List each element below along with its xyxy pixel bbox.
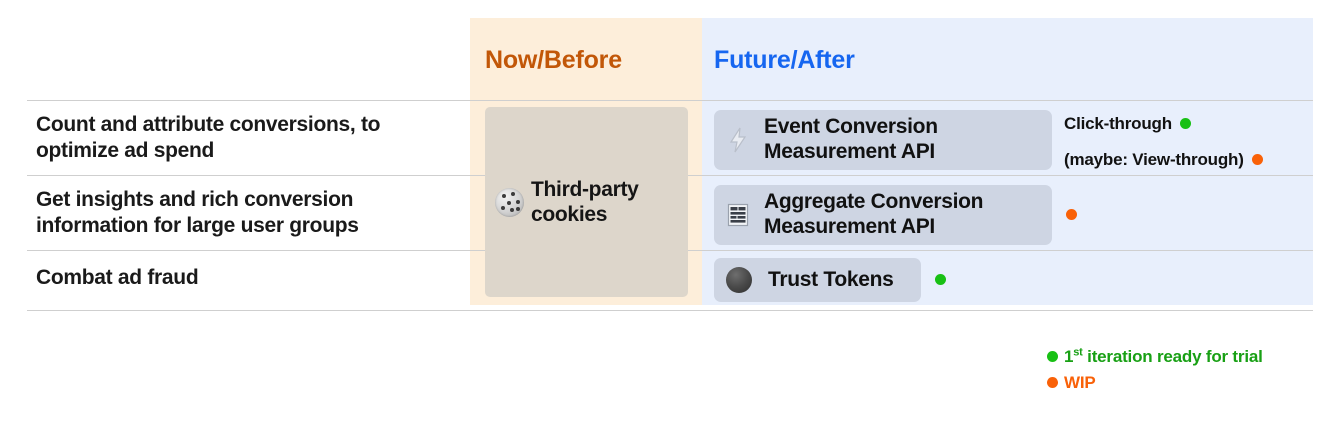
api-label: Trust Tokens [768,268,894,293]
row-divider [27,100,1313,101]
goal-label: Get insights and rich conversion informa… [36,187,456,240]
legend-dot-orange [1047,377,1058,388]
trust-token-icon [726,267,752,293]
column-header-future-after: Future/After [714,46,855,75]
legend: 1st iteration ready for trial WIP [1047,344,1327,397]
column-header-now-before: Now/Before [485,46,622,75]
legend-ready-text: iteration ready for trial [1083,347,1263,366]
third-party-cookies-label: Third-party cookies [531,177,671,227]
api-label: Event Conversion Measurement API [764,115,1052,165]
trust-tokens-pill[interactable]: Trust Tokens [714,258,921,302]
legend-dot-green [1047,351,1058,362]
note-view-through: (maybe: View-through) [1064,150,1263,170]
goal-label: Count and attribute conversions, to opti… [36,112,456,165]
goal-label: Combat ad fraud [36,265,456,291]
status-dot-wip [1066,209,1077,220]
note-click-through: Click-through [1064,114,1191,134]
status-dot-ready [1180,118,1191,129]
cookie-icon [495,188,524,217]
aggregate-conversion-measurement-api-pill[interactable]: Aggregate Conversion Measurement API [714,185,1052,245]
status-dot-ready [935,274,946,285]
legend-item-wip: WIP [1047,370,1327,396]
legend-ready-prefix: 1 [1064,347,1073,366]
lightning-bolt-icon [726,126,750,154]
third-party-cookies-cell: Third-party cookies [485,107,688,297]
status-dot-wip [1252,154,1263,165]
legend-wip-text: WIP [1064,373,1096,392]
legend-item-ready: 1st iteration ready for trial [1047,344,1327,370]
api-label: Aggregate Conversion Measurement API [764,190,1052,240]
row-divider [27,310,1313,311]
spreadsheet-icon [726,201,750,229]
legend-ready-sup: st [1073,346,1082,358]
note-text: (maybe: View-through) [1064,150,1244,169]
note-text: Click-through [1064,114,1172,133]
event-conversion-measurement-api-pill[interactable]: Event Conversion Measurement API [714,110,1052,170]
